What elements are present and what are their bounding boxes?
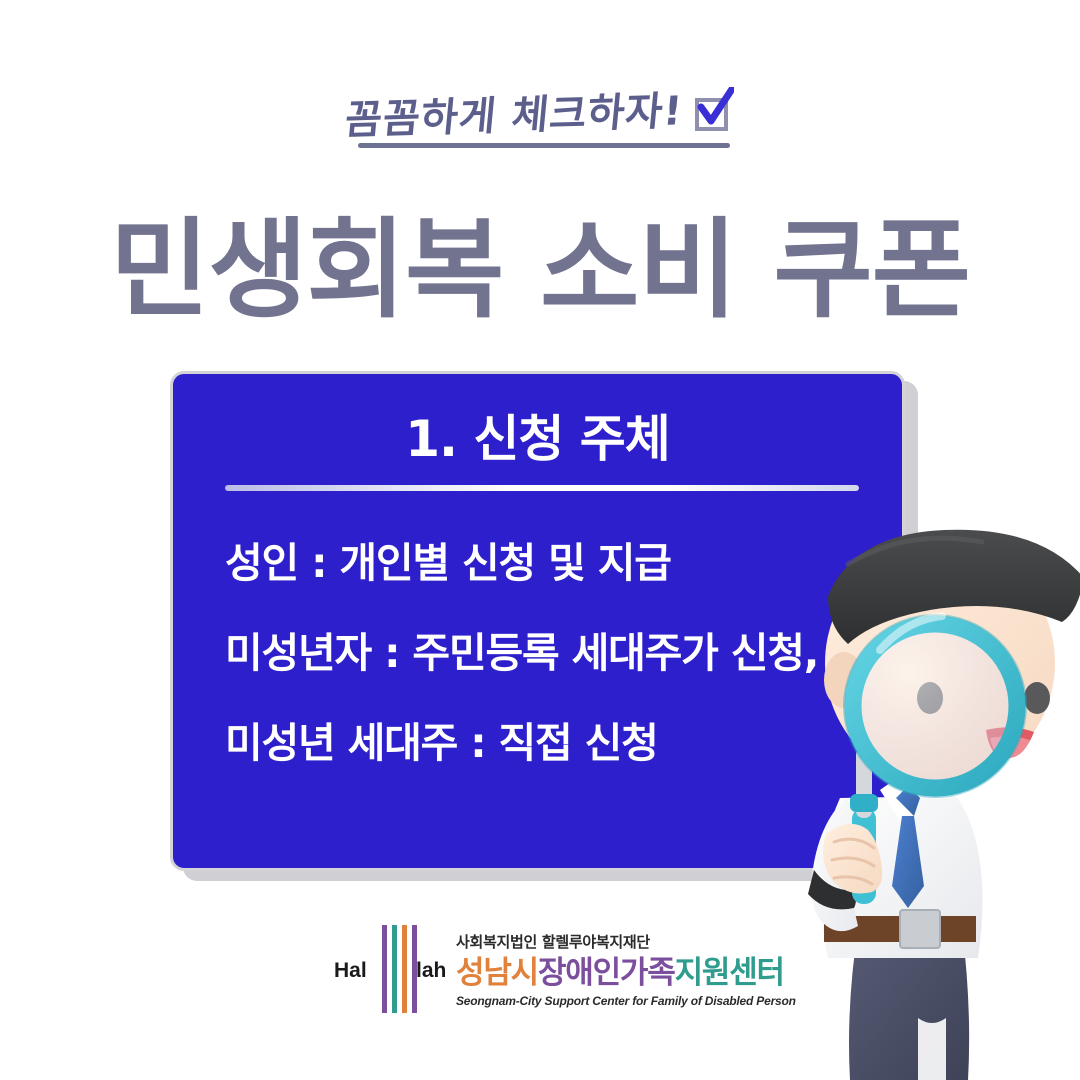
checkbox-checked-icon xyxy=(692,93,734,135)
kicker-banner: 꼼꼼하게 체크하자! xyxy=(0,72,1080,152)
card-divider xyxy=(225,485,859,491)
mascot-illustration xyxy=(800,498,1080,1080)
logo-center-name: 성남시장애인가족지원센터 xyxy=(456,955,796,991)
logo-bars-icon: Hal lah xyxy=(356,925,430,1013)
logo-wordmark-right: lah xyxy=(416,959,446,983)
organization-logo: Hal lah 사회복지법인 할렐루야복지재단 성남시장애인가족지원센터 Seo… xyxy=(356,921,746,1017)
info-card: 1. 신청 주체 성인 : 개인별 신청 및 지급 미성년자 : 주민등록 세대… xyxy=(170,371,905,871)
kicker-underline xyxy=(358,143,730,148)
logo-wordmark-left: Hal xyxy=(334,959,367,983)
logo-center-name-part-3: 지원센터 xyxy=(675,955,784,991)
logo-foundation-name: 사회복지법인 할렐루야복지재단 xyxy=(456,931,796,952)
logo-center-name-part-2: 장애인가족 xyxy=(538,955,675,991)
logo-text-block: 사회복지법인 할렐루야복지재단 성남시장애인가족지원센터 Seongnam-Ci… xyxy=(456,931,796,1008)
page-title: 민생회복 소비 쿠폰 xyxy=(0,207,1080,335)
card-heading: 1. 신청 주체 xyxy=(173,408,902,470)
kicker-text: 꼼꼼하게 체크하자! xyxy=(342,78,685,145)
logo-center-name-part-1: 성남시 xyxy=(456,955,538,991)
logo-english-name: Seongnam-City Support Center for Family … xyxy=(456,994,796,1008)
